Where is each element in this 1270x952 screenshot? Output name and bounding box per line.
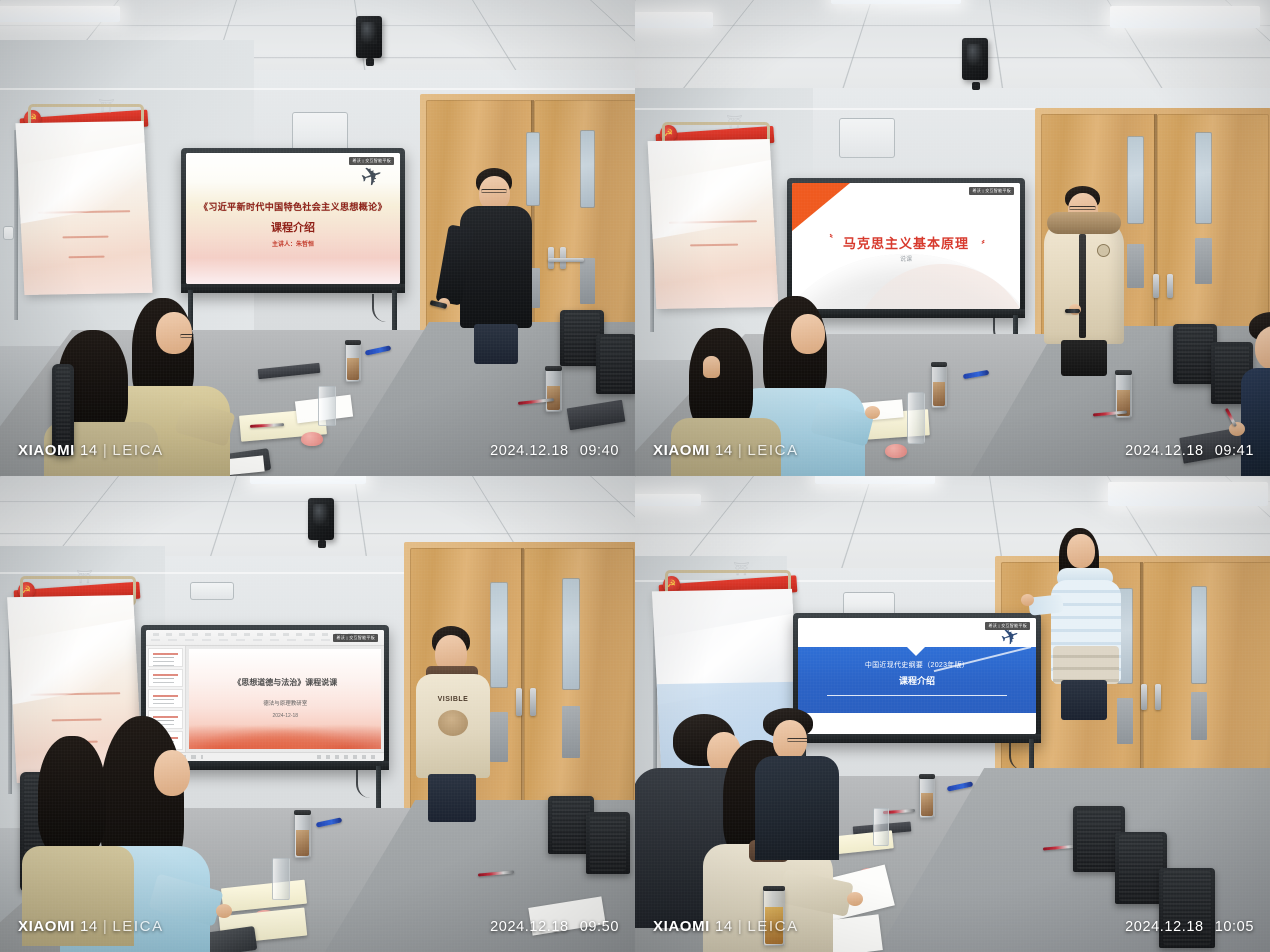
watermark-brand-3: XIAOMI 14 | LEICA xyxy=(18,918,164,935)
slide-screen-2: 希沃 | 交互智能平板 〝 〞 马克思主义基本原理 说课 xyxy=(792,183,1020,309)
door-glass-panel-right xyxy=(562,578,580,690)
sweater-text: VISIBLE xyxy=(421,696,485,703)
audience-hand xyxy=(865,406,880,419)
ceiling-light xyxy=(635,494,701,506)
watermark-separator: | xyxy=(103,918,108,935)
slide-title-1: 《习近平新时代中国特色社会主义思想概论》 xyxy=(186,200,400,213)
door-kickplate-left xyxy=(490,712,508,762)
door-kickplate-right xyxy=(580,258,595,304)
watermark-timestamp-4: 2024.12.18 10:05 xyxy=(1125,919,1254,935)
tea-bottle xyxy=(545,368,562,412)
presenter-legs xyxy=(1061,680,1107,720)
slide-presenter-line-1: 主讲人：朱哲恒 xyxy=(186,239,400,248)
flipchart-sheet xyxy=(15,121,152,295)
presenter-legs xyxy=(474,324,518,364)
tea-bottle xyxy=(919,776,935,818)
tea-bottle xyxy=(294,812,311,858)
door-push-bar[interactable] xyxy=(548,258,584,262)
raised-hand xyxy=(703,356,720,378)
slide-screen-1: ✈ 希沃 | 交互智能平板 《习近平新时代中国特色社会主义思想概论》 课程介绍 … xyxy=(186,153,400,284)
classroom-scene-4: ⛩ ✈ 希沃 | 交互智能平板 xyxy=(635,476,1270,952)
presenter-legs xyxy=(1061,340,1107,376)
water-glass xyxy=(318,386,336,426)
glasses-icon xyxy=(1069,206,1096,210)
tea-bottle xyxy=(345,342,361,382)
door-glass-panel-right xyxy=(1191,586,1207,684)
ceiling-speaker-icon xyxy=(356,16,382,58)
door-kickplate-right xyxy=(1191,692,1207,740)
watermark-time: 09:41 xyxy=(1215,443,1254,459)
slide-thumbnail[interactable] xyxy=(148,669,183,688)
audience-hand xyxy=(216,904,232,918)
watermark-separator: | xyxy=(738,442,743,459)
watermark-model-text: 14 xyxy=(715,918,733,935)
presenter-legs xyxy=(428,774,476,822)
slide-title-2: 马克思主义基本原理 xyxy=(792,233,1020,252)
display-brand-tag: 希沃 | 交互智能平板 xyxy=(969,187,1014,195)
bear-graphic-icon xyxy=(438,710,468,736)
door-kickplate-right xyxy=(1195,238,1212,284)
audience-jacket xyxy=(1241,368,1270,476)
watermark-model-text: 14 xyxy=(80,918,98,935)
watermark-date: 2024.12.18 xyxy=(490,443,569,459)
watermark-model-text: 14 xyxy=(80,442,98,459)
pink-cup xyxy=(301,432,323,446)
tea-bottle xyxy=(931,364,947,408)
display-brand-tag: 希沃 | 交互智能平板 xyxy=(985,622,1030,630)
watermark-lens-text: LEICA xyxy=(112,442,163,459)
audience-head xyxy=(791,314,825,354)
presenter-1 xyxy=(448,168,544,358)
photo-collage: ⛩ ✈ 希沃 | 交互智能平板 《习近平新时代中国特色社会主义思想 xyxy=(0,0,1270,952)
watermark-time: 09:50 xyxy=(580,919,619,935)
watermark-time: 09:40 xyxy=(580,443,619,459)
presenter-jacket xyxy=(460,206,532,328)
door-glass-panel-right xyxy=(580,130,595,208)
slide-thumbnail[interactable] xyxy=(148,689,183,708)
door-handle-left[interactable] xyxy=(516,688,522,716)
water-bottle xyxy=(907,392,925,444)
watermark-time: 10:05 xyxy=(1215,919,1254,935)
presenter-2 xyxy=(1039,186,1133,374)
audience-hair xyxy=(689,328,753,432)
parka-badge xyxy=(1097,244,1110,257)
ink-mountain-graphic xyxy=(189,719,381,749)
door-handle-left[interactable] xyxy=(1141,684,1147,710)
classroom-scene-2: ⛩ 希沃 | 交互智能平板 〝 xyxy=(635,0,1270,476)
door-kickplate-right xyxy=(562,706,580,758)
door-handle-right[interactable] xyxy=(1155,684,1161,710)
interactive-display-1[interactable]: ✈ 希沃 | 交互智能平板 《习近平新时代中国特色社会主义思想概论》 课程介绍 … xyxy=(181,148,405,293)
door-handle-right[interactable] xyxy=(530,688,536,716)
watermark-date: 2024.12.18 xyxy=(1125,919,1204,935)
ceiling-speaker-icon xyxy=(962,38,988,80)
watermark-separator: | xyxy=(738,918,743,935)
water-glass xyxy=(272,858,290,900)
display-brand-tag: 希沃 | 交互智能平板 xyxy=(333,634,378,642)
watermark-timestamp-2: 2024.12.18 09:41 xyxy=(1125,443,1254,459)
presenter-4 xyxy=(1039,506,1129,706)
orange-corner-shape xyxy=(792,183,850,231)
photo-top-right: ⛩ 希沃 | 交互智能平板 〝 xyxy=(635,0,1270,476)
watermark-brand-text: XIAOMI xyxy=(653,442,710,459)
watermark-model-text: 14 xyxy=(715,442,733,459)
slide-date-3: 2024-12-18 xyxy=(189,713,381,719)
watermark-timestamp-1: 2024.12.18 09:40 xyxy=(490,443,619,459)
watermark-timestamp-3: 2024.12.18 09:50 xyxy=(490,919,619,935)
ceiling-light xyxy=(635,12,713,28)
watermark-separator: | xyxy=(103,442,108,459)
photo-top-left: ⛩ ✈ 希沃 | 交互智能平板 《习近平新时代中国特色社会主义思想 xyxy=(0,0,635,476)
slide-title-4: 中国近现代史纲要（2023年版） xyxy=(798,660,1036,670)
classroom-scene-1: ⛩ ✈ 希沃 | 交互智能平板 《习近平新时代中国特色社会主义思想 xyxy=(0,0,635,476)
watermark-brand-text: XIAOMI xyxy=(18,918,75,935)
ceiling-speaker-icon xyxy=(308,498,334,540)
watermark-lens-text: LEICA xyxy=(747,442,798,459)
wall-ac-panel xyxy=(839,118,895,158)
audience-member xyxy=(753,708,843,888)
watermark-date: 2024.12.18 xyxy=(490,919,569,935)
slide-subtitle-4: 课程介绍 xyxy=(798,674,1036,687)
tea-bottle xyxy=(763,888,785,946)
parka-placket xyxy=(1079,234,1086,338)
ceiling-light xyxy=(1110,6,1260,28)
audience-hair xyxy=(38,736,106,856)
display-brand-tag: 希沃 | 交互智能平板 xyxy=(349,157,394,165)
chair[interactable] xyxy=(1159,868,1215,948)
watermark-brand-text: XIAOMI xyxy=(653,918,710,935)
water-glass xyxy=(873,808,889,846)
pink-cup xyxy=(885,444,907,458)
ceiling-light xyxy=(831,0,961,4)
slide-thumbnail[interactable] xyxy=(148,648,183,667)
photo-bottom-left: ⛩ xyxy=(0,476,635,952)
glasses-icon xyxy=(787,738,809,742)
chair[interactable] xyxy=(596,334,635,394)
door-glass-panel-right xyxy=(1195,132,1212,224)
ceiling-light xyxy=(815,476,935,484)
presenter-3: VISIBLE xyxy=(412,626,492,822)
door-handle-left[interactable] xyxy=(1153,274,1159,298)
fur-hood xyxy=(1047,212,1121,234)
slide-subtitle-2: 说课 xyxy=(792,254,1020,263)
slide-divider xyxy=(827,695,1008,696)
door-glass-panel-left xyxy=(490,582,508,688)
door-handle-right[interactable] xyxy=(1167,274,1173,298)
watermark-brand-1: XIAOMI 14 | LEICA xyxy=(18,442,164,459)
glasses-icon xyxy=(481,189,507,193)
watermark-lens-text: LEICA xyxy=(112,918,163,935)
watermark-brand-text: XIAOMI xyxy=(18,442,75,459)
watermark-date: 2024.12.18 xyxy=(1125,443,1204,459)
slide-subtitle-1: 课程介绍 xyxy=(186,219,400,235)
ceiling-light xyxy=(250,476,366,484)
photo-bottom-right: ⛩ ✈ 希沃 | 交互智能平板 xyxy=(635,476,1270,952)
audience-hand xyxy=(1229,422,1245,436)
audience-jacket xyxy=(755,756,839,860)
watermark-brand-4: XIAOMI 14 | LEICA xyxy=(653,918,799,935)
wall-ac-panel xyxy=(190,582,234,600)
slide-subtitle-3: 德法与原理教研室 xyxy=(189,699,381,707)
audience-hand xyxy=(847,892,863,906)
presenter-head xyxy=(1067,534,1095,568)
presenter-remote[interactable] xyxy=(1065,309,1080,313)
watermark-lens-text: LEICA xyxy=(747,918,798,935)
watermark-brand-2: XIAOMI 14 | LEICA xyxy=(653,442,799,459)
ceiling-light xyxy=(1108,482,1268,506)
flipchart-sheet xyxy=(648,139,779,309)
presenter-hand xyxy=(1021,594,1034,606)
chair[interactable] xyxy=(586,812,630,874)
classroom-scene-3: ⛩ xyxy=(0,476,635,952)
slide-title-3: 《思想道德与法治》课程说课 xyxy=(189,677,381,688)
glasses-icon xyxy=(180,334,194,338)
presenter-puffer-lower xyxy=(1053,646,1119,684)
audience-head xyxy=(154,750,190,796)
